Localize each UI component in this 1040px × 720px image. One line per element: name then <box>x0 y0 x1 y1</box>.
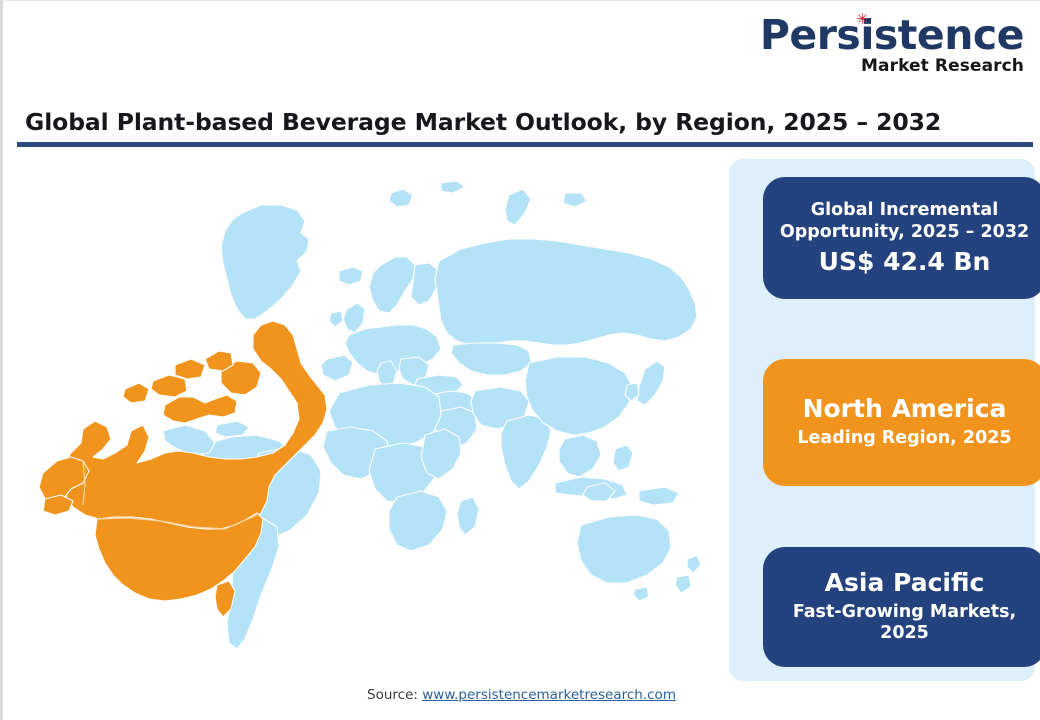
source-link[interactable]: www.persistencemarketresearch.com <box>422 687 676 703</box>
source-line: Source: www.persistencemarketresearch.co… <box>3 687 1040 703</box>
region-tasmania <box>633 587 649 601</box>
card-leading-region: North America Leading Region, 2025 <box>763 359 1040 486</box>
stats-panel: Global Incremental Opportunity, 2025 – 2… <box>729 159 1035 681</box>
card-leading-region-subheading: Leading Region, 2025 <box>781 428 1027 450</box>
region-svalbard <box>389 189 413 207</box>
region-new-zealand <box>687 555 701 573</box>
region-new-zealand-south <box>675 575 691 593</box>
region-ellesmere <box>205 351 233 371</box>
infographic-canvas: Persistence ✳ Market Research Global Pla… <box>0 0 1040 720</box>
region-severnaya <box>563 193 587 207</box>
star-icon: ✳ <box>856 12 868 27</box>
region-central-asia <box>451 343 531 375</box>
region-northern-canada-islands <box>175 359 205 379</box>
region-southern-africa <box>389 491 447 551</box>
card-fast-growing-heading: Asia Pacific <box>825 569 985 598</box>
brand-name-label: Persistence <box>760 11 1024 59</box>
card-fast-growing-market: Asia Pacific Fast-Growing Markets, 2025 <box>763 547 1040 667</box>
region-novaya-zemlya <box>505 189 531 225</box>
card-leading-region-heading: North America <box>803 395 1007 424</box>
region-caribbean <box>215 421 249 437</box>
region-iceland <box>339 267 363 285</box>
region-australia <box>577 515 671 583</box>
title-divider <box>17 142 1033 147</box>
region-greenland <box>221 205 309 319</box>
region-southeast-asia <box>559 435 601 477</box>
region-finland-baltics <box>411 263 439 305</box>
region-great-britain <box>343 303 365 333</box>
region-philippines <box>613 445 633 471</box>
region-new-guinea <box>639 487 679 505</box>
card-opportunity-value: US$ 42.4 Bn <box>819 247 991 277</box>
region-scandinavia <box>369 257 415 313</box>
world-map <box>9 153 725 673</box>
region-madagascar <box>457 497 479 535</box>
region-russia <box>435 239 697 345</box>
region-japan <box>637 361 665 405</box>
brand-name-text: Persistence ✳ <box>760 15 1024 56</box>
region-iberia <box>321 355 353 381</box>
page-title: Global Plant-based Beverage Market Outlo… <box>25 108 941 136</box>
card-opportunity-label: Global Incremental Opportunity, 2025 – 2… <box>763 199 1040 244</box>
card-fast-growing-subheading: Fast-Growing Markets, 2025 <box>763 602 1040 645</box>
region-east-africa <box>421 429 461 479</box>
card-global-incremental-opportunity: Global Incremental Opportunity, 2025 – 2… <box>763 177 1040 299</box>
region-banks-island <box>123 383 149 403</box>
region-arctic-archipelago <box>163 395 237 423</box>
brand-logo: Persistence ✳ Market Research <box>760 15 1024 75</box>
region-victoria-island <box>151 375 187 397</box>
region-central-america <box>163 425 215 455</box>
brand-tagline: Market Research <box>760 58 1024 75</box>
region-ireland <box>329 311 343 327</box>
region-india <box>501 415 551 489</box>
region-arctic-isles <box>441 181 465 193</box>
source-label: Source: <box>367 687 418 703</box>
world-map-svg <box>9 153 725 673</box>
map-base-regions <box>163 181 701 649</box>
